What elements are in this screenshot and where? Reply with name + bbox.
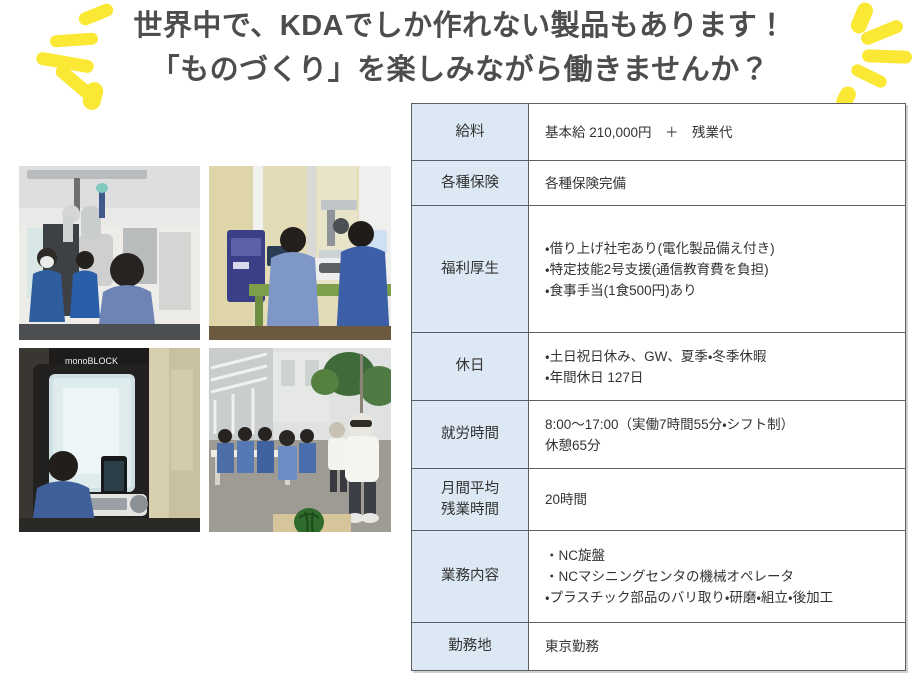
table-row: 休日 ・土日祝日休み、GW、夏季・冬季休暇 ・年間休日 127日 [412, 333, 906, 401]
headline-line-2: 「ものづくり」を楽しみながら働きませんか？ [0, 48, 920, 92]
table-row: 勤務地 東京勤務 [412, 623, 906, 671]
table-row: 就労時間 8:00〜17:00（実働7時間55分・シフト制） 休憩65分 [412, 401, 906, 469]
photo-watermelon-event [209, 348, 391, 532]
headline-line-1: 世界中で、KDAでしか作れない製品もあります！ [133, 10, 786, 42]
row-label-monthly-overtime: 月間平均 残業時間 [412, 469, 529, 531]
row-value-holidays: ・土日祝日休み、GW、夏季・冬季休暇 ・年間休日 127日 [529, 333, 906, 401]
table-row: 福利厚生 ・借り上げ社宅あり(電化製品備え付き) ・特定技能2号支援(通信教育費… [412, 206, 906, 333]
photo-cnc-operator: monoBLOCK [19, 348, 200, 532]
table-row: 月間平均 残業時間 20時間 [412, 469, 906, 531]
table-row: 給料 基本給 210,000円 ＋ 残業代 [412, 104, 906, 161]
page-title: 世界中で、KDAでしか作れない製品もあります！ 「ものづくり」を楽しみながら働き… [0, 4, 920, 92]
row-value-monthly-overtime: 20時間 [529, 469, 906, 531]
recruitment-poster: 世界中で、KDAでしか作れない製品もあります！ 「ものづくり」を楽しみながら働き… [0, 0, 920, 690]
row-label-work-location: 勤務地 [412, 623, 529, 671]
photo-testing-machine [209, 166, 391, 340]
photo-collage: monoBLOCK [19, 166, 391, 532]
row-label-job-duties: 業務内容 [412, 531, 529, 623]
row-label-working-hours: 就労時間 [412, 401, 529, 469]
row-label-benefits: 福利厚生 [412, 206, 529, 333]
row-label-salary: 給料 [412, 104, 529, 161]
table-row: 各種保険 各種保険完備 [412, 161, 906, 206]
row-value-benefits: ・借り上げ社宅あり(電化製品備え付き) ・特定技能2号支援(通信教育費を負担) … [529, 206, 906, 333]
table-row: 業務内容 ・NC旋盤 ・NCマシニングセンタの機械オペレータ ・プラスチック部品… [412, 531, 906, 623]
row-value-work-location: 東京勤務 [529, 623, 906, 671]
row-label-holidays: 休日 [412, 333, 529, 401]
job-conditions-table: 給料 基本給 210,000円 ＋ 残業代 各種保険 各種保険完備 福利厚生 [411, 103, 906, 671]
row-label-insurance: 各種保険 [412, 161, 529, 206]
row-value-insurance: 各種保険完備 [529, 161, 906, 206]
row-value-job-duties: ・NC旋盤 ・NCマシニングセンタの機械オペレータ ・プラスチック部品のバリ取り… [529, 531, 906, 623]
photo-factory-meeting [19, 166, 200, 340]
row-value-working-hours: 8:00〜17:00（実働7時間55分・シフト制） 休憩65分 [529, 401, 906, 469]
row-value-salary: 基本給 210,000円 ＋ 残業代 [529, 104, 906, 161]
